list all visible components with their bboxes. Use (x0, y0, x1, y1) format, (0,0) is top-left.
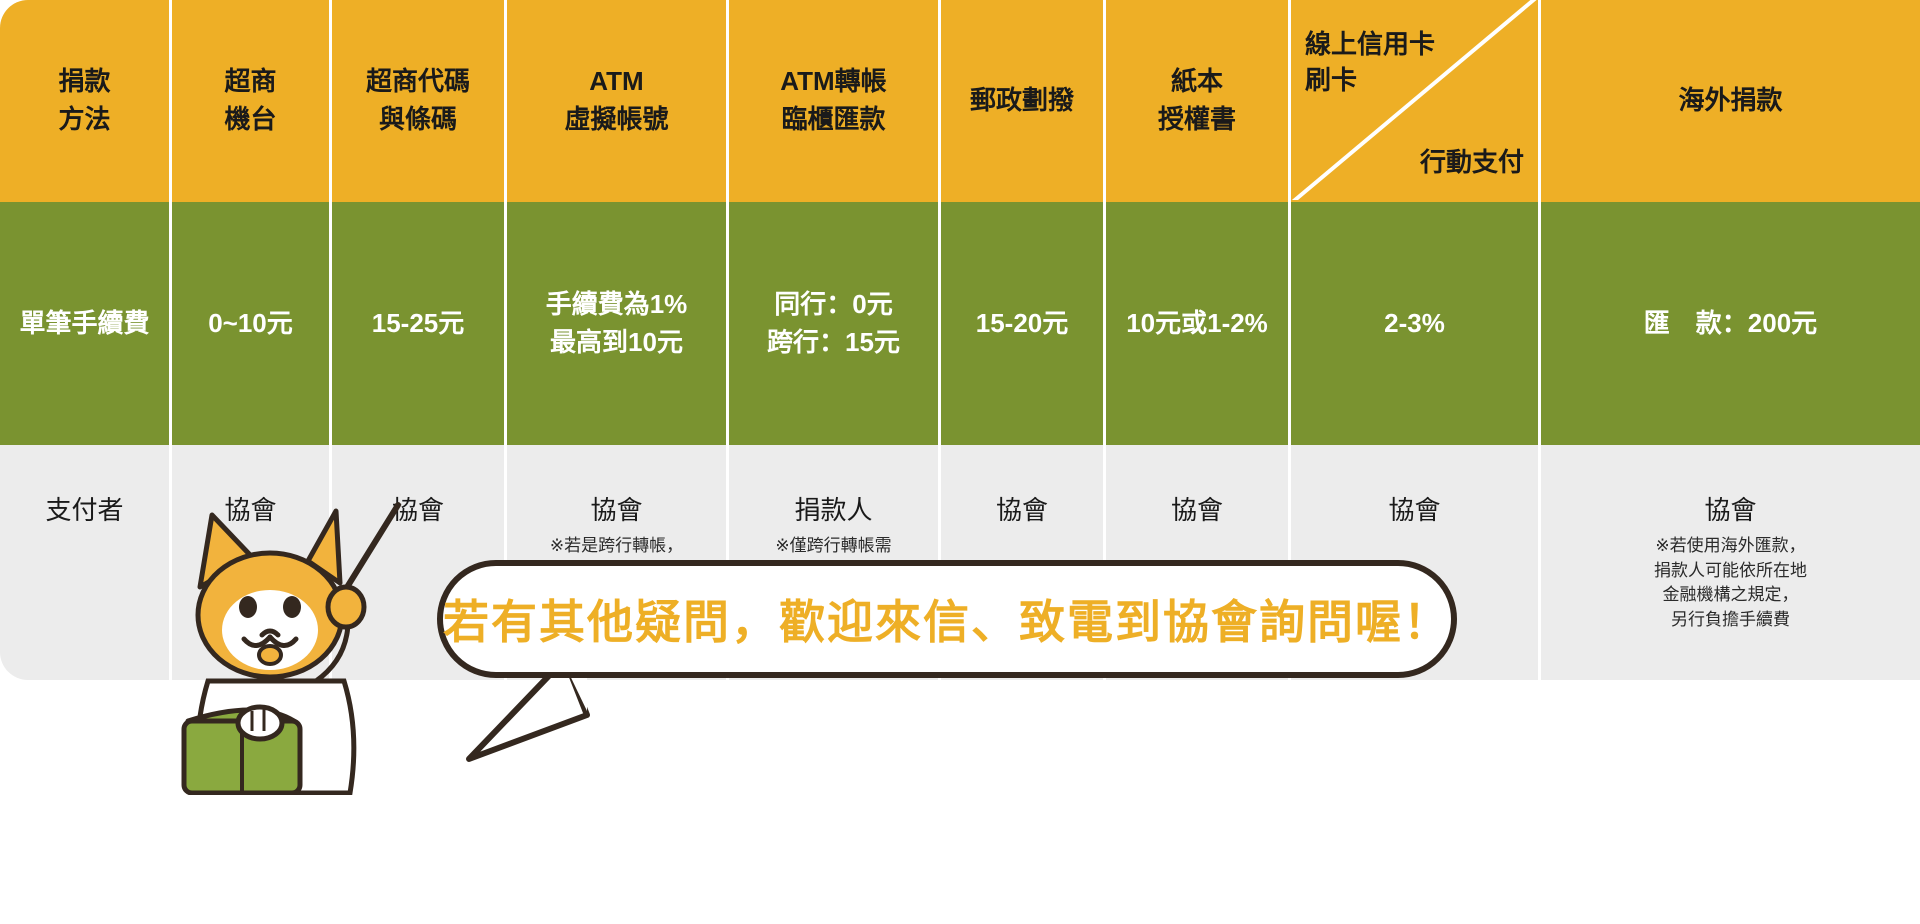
fee-text: 手續費為1% (546, 286, 688, 324)
note-line: ※若使用海外匯款， (1654, 534, 1807, 559)
infographic-canvas: 捐款 方法 超商 機台 超商代碼 與條碼 ATM 虛擬帳號 ATM轉帳 臨櫃匯款… (0, 0, 1920, 924)
header-line: 超商 (224, 63, 276, 101)
header-line: 機台 (224, 101, 276, 139)
header-line: ATM (589, 63, 643, 101)
header-line: 紙本 (1171, 63, 1223, 101)
fee-text: 匯 款：200元 (1644, 305, 1817, 343)
header-line: 郵政劃撥 (970, 82, 1074, 120)
header-line: 方法 (58, 101, 110, 139)
row-label-text: 單筆手續費 (19, 305, 149, 343)
fee-text: 15-25元 (372, 305, 465, 343)
payer-text: 協會 (996, 493, 1048, 528)
header-line: 刷卡 (1305, 62, 1435, 98)
payer-text: 協會 (1704, 493, 1756, 528)
fee-cell-card-and-mobile: 2-3% (1291, 202, 1541, 445)
fee-cell-cvs-code: 15-25元 (332, 202, 507, 445)
header-cell-cvs-kiosk: 超商 機台 (172, 0, 332, 202)
header-line: 與條碼 (379, 101, 457, 139)
header-cell-postal: 郵政劃撥 (941, 0, 1106, 202)
paw-front-icon (238, 707, 282, 739)
payer-cell-overseas: 協會 ※若使用海外匯款， 捐款人可能依所在地 金融機構之規定， 另行負擔手續費 (1541, 445, 1920, 680)
note-line: 捐款人可能依所在地 (1654, 559, 1807, 584)
note-line: 金融機構之規定， (1654, 583, 1807, 608)
payer-note: ※若使用海外匯款， 捐款人可能依所在地 金融機構之規定， 另行負擔手續費 (1654, 534, 1807, 633)
fee-text: 10元或1-2% (1126, 305, 1268, 343)
eye-left-icon (239, 596, 257, 618)
header-cell-cvs-code: 超商代碼 與條碼 (332, 0, 507, 202)
header-cell-overseas: 海外捐款 (1541, 0, 1920, 202)
paw-icon (328, 587, 364, 627)
header-cell-card-and-mobile: 線上信用卡 刷卡 行動支付 (1291, 0, 1541, 202)
header-cell-atm-virtual: ATM 虛擬帳號 (507, 0, 729, 202)
fee-cell-cvs-kiosk: 0~10元 (172, 202, 332, 445)
header-line: 行動支付 (1420, 144, 1524, 180)
cat-mascot-icon (140, 495, 440, 795)
note-line: ※僅跨行轉帳需 (774, 534, 893, 559)
fee-text: 同行：0元 (774, 286, 892, 324)
payer-text: 協會 (590, 493, 642, 528)
header-cell-atm-counter: ATM轉帳 臨櫃匯款 (729, 0, 941, 202)
fee-cell-atm-counter: 同行：0元 跨行：15元 (729, 202, 941, 445)
payer-text: 協會 (1388, 493, 1440, 528)
fee-text: 2-3% (1384, 305, 1445, 343)
fee-text: 最高到10元 (550, 324, 683, 362)
row-label-text: 支付者 (45, 493, 123, 528)
header-line: 海外捐款 (1678, 82, 1782, 120)
header-line: 超商代碼 (366, 63, 470, 101)
table-header-row: 捐款 方法 超商 機台 超商代碼 與條碼 ATM 虛擬帳號 ATM轉帳 臨櫃匯款… (0, 0, 1920, 202)
fee-text: 0~10元 (208, 305, 293, 343)
payer-text: 協會 (1171, 493, 1223, 528)
header-line: 線上信用卡 (1305, 26, 1435, 62)
fee-cell-postal: 15-20元 (941, 202, 1106, 445)
payer-text: 捐款人 (794, 493, 872, 528)
header-line: ATM轉帳 (780, 63, 886, 101)
speech-bubble-text: 若有其他疑問，歡迎來信、致電到協會詢問喔！ (443, 586, 1451, 652)
note-line: ※若是跨行轉帳， (550, 534, 683, 559)
table-row-fee: 單筆手續費 0~10元 15-25元 手續費為1% 最高到10元 同行：0元 跨… (0, 202, 1920, 445)
fee-cell-paper-auth: 10元或1-2% (1106, 202, 1291, 445)
header-line: 捐款 (58, 63, 110, 101)
fee-cell-atm-virtual: 手續費為1% 最高到10元 (507, 202, 729, 445)
header-label-online-card: 線上信用卡 刷卡 (1305, 26, 1435, 99)
header-line: 虛擬帳號 (564, 101, 668, 139)
header-line: 臨櫃匯款 (781, 101, 885, 139)
row-label-fee: 單筆手續費 (0, 202, 172, 445)
header-cell-paper-auth: 紙本 授權書 (1106, 0, 1291, 202)
note-line: 另行負擔手續費 (1654, 608, 1807, 633)
fee-text: 15-20元 (976, 305, 1069, 343)
fee-cell-overseas: 匯 款：200元 (1541, 202, 1920, 445)
speech-bubble: 若有其他疑問，歡迎來信、致電到協會詢問喔！ (437, 560, 1457, 678)
eye-right-icon (283, 596, 301, 618)
fee-text: 跨行：15元 (767, 324, 900, 362)
header-line: 授權書 (1158, 101, 1236, 139)
header-label-mobile-pay: 行動支付 (1420, 144, 1524, 180)
header-cell-method: 捐款 方法 (0, 0, 172, 202)
